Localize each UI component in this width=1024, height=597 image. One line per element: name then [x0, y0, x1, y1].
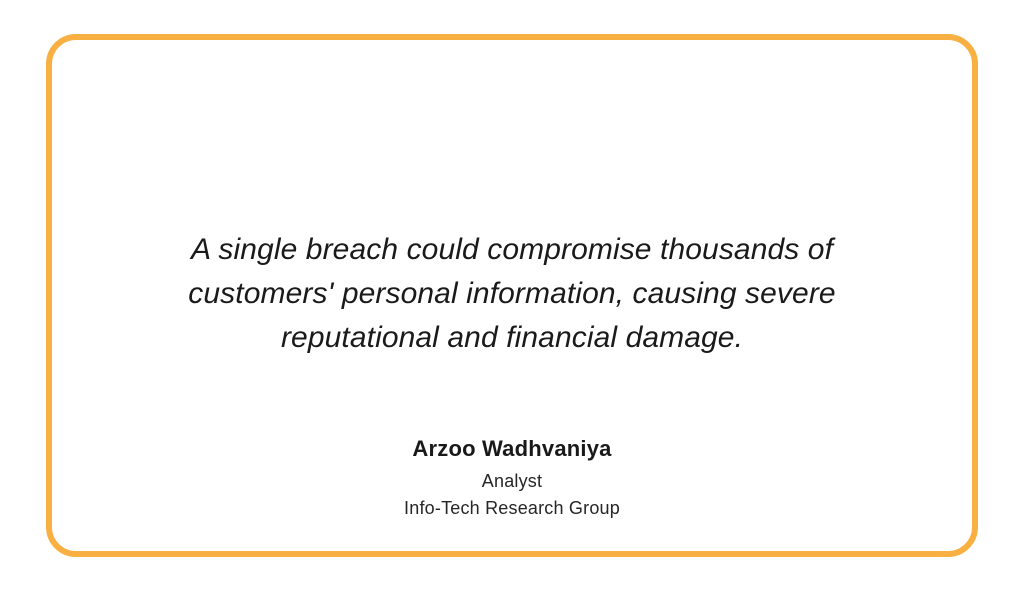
quote-text: A single breach could compromise thousan… [92, 228, 932, 360]
quote-card: A single breach could compromise thousan… [46, 34, 978, 557]
attribution-name: Arzoo Wadhvaniya [52, 434, 972, 463]
attribution-organization: Info-Tech Research Group [52, 496, 972, 521]
quote-line-1: A single breach could compromise thousan… [152, 228, 872, 272]
attribution: Arzoo Wadhvaniya Analyst Info-Tech Resea… [52, 434, 972, 521]
quote-line-3: reputational and financial damage. [152, 316, 872, 360]
attribution-role: Analyst [52, 469, 972, 494]
quote-line-2: customers' personal information, causing… [152, 272, 872, 316]
slide-canvas: A single breach could compromise thousan… [0, 0, 1024, 597]
